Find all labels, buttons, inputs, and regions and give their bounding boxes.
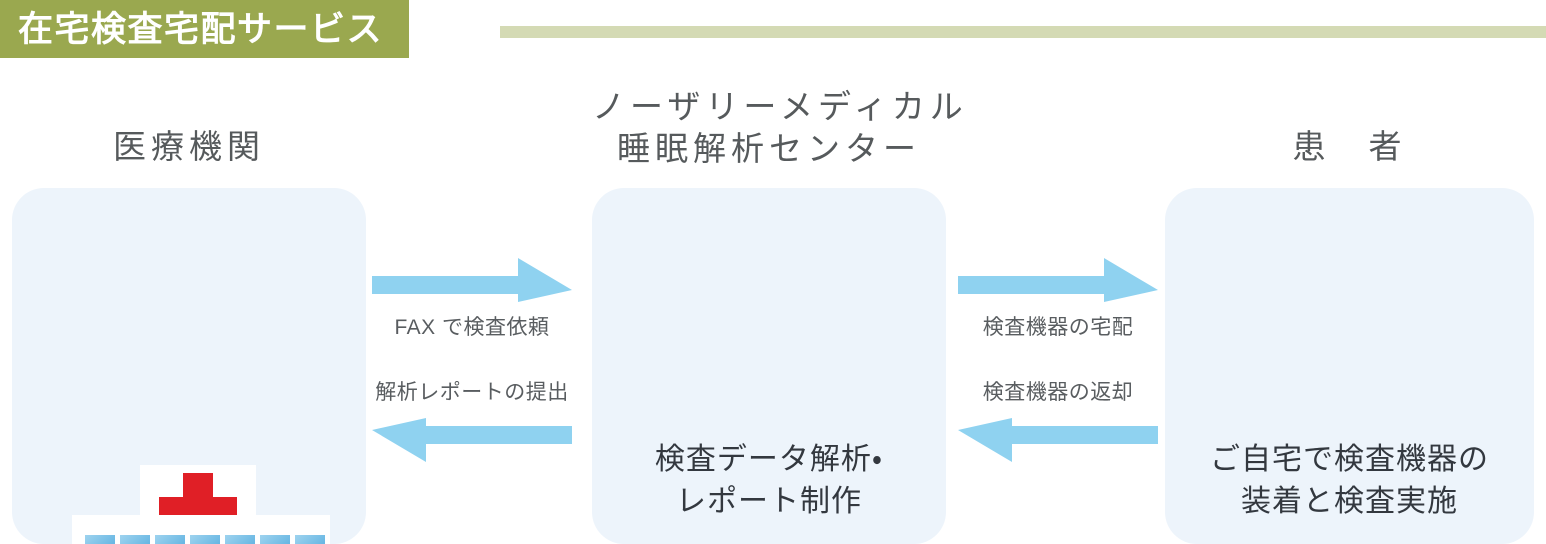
card-caption-patient-line2: 装着と検査実施 xyxy=(1165,481,1534,524)
flow-device-return: 検査機器の返却 xyxy=(958,380,1158,462)
card-patient: ご自宅で検査機器の 装着と検査実施 xyxy=(1165,188,1534,544)
card-hospital xyxy=(12,188,366,544)
card-caption-center-line2: レポート制作 xyxy=(592,481,946,524)
diagram-canvas: 在宅検査宅配サービス 医療機関 ノーザリーメディカル 睡眠解析センター 患 者 xyxy=(0,0,1546,544)
flow-report-submission-label: 解析レポートの提出 xyxy=(372,380,572,405)
flow-device-delivery: 検査機器の宅配 xyxy=(958,258,1158,340)
title-banner: 在宅検査宅配サービス xyxy=(0,0,1546,58)
column-heading-hospital: 医療機関 xyxy=(12,126,366,168)
flow-device-delivery-label: 検査機器の宅配 xyxy=(958,315,1158,340)
flow-fax-request-label: FAX で検査依頼 xyxy=(372,315,572,340)
arrow-left-icon xyxy=(958,414,1158,462)
column-heading-patient: 患 者 xyxy=(1165,126,1534,168)
card-caption-patient: ご自宅で検査機器の 装着と検査実施 xyxy=(1165,439,1534,524)
card-analysis-center: 検査データ解析・ レポート制作 xyxy=(592,188,946,544)
card-caption-patient-line1: ご自宅で検査機器の xyxy=(1165,439,1534,482)
flow-device-return-label: 検査機器の返却 xyxy=(958,380,1158,405)
column-heading-center-line1: ノーザリーメディカル xyxy=(592,86,946,128)
arrow-left-icon xyxy=(372,414,572,462)
arrow-right-icon xyxy=(958,258,1158,306)
card-caption-center-line1: 検査データ解析・ xyxy=(592,439,946,482)
banner-chip: 在宅検査宅配サービス xyxy=(0,0,409,58)
banner-title: 在宅検査宅配サービス xyxy=(18,12,383,47)
banner-rule xyxy=(500,26,1546,38)
card-caption-center: 検査データ解析・ レポート制作 xyxy=(592,439,946,524)
flow-report-submission: 解析レポートの提出 xyxy=(372,380,572,462)
hospital-icon xyxy=(59,463,343,544)
column-heading-center: ノーザリーメディカル 睡眠解析センター xyxy=(592,86,946,170)
column-heading-center-line2: 睡眠解析センター xyxy=(592,128,946,170)
flow-fax-request: FAX で検査依頼 xyxy=(372,258,572,340)
arrow-right-icon xyxy=(372,258,572,306)
